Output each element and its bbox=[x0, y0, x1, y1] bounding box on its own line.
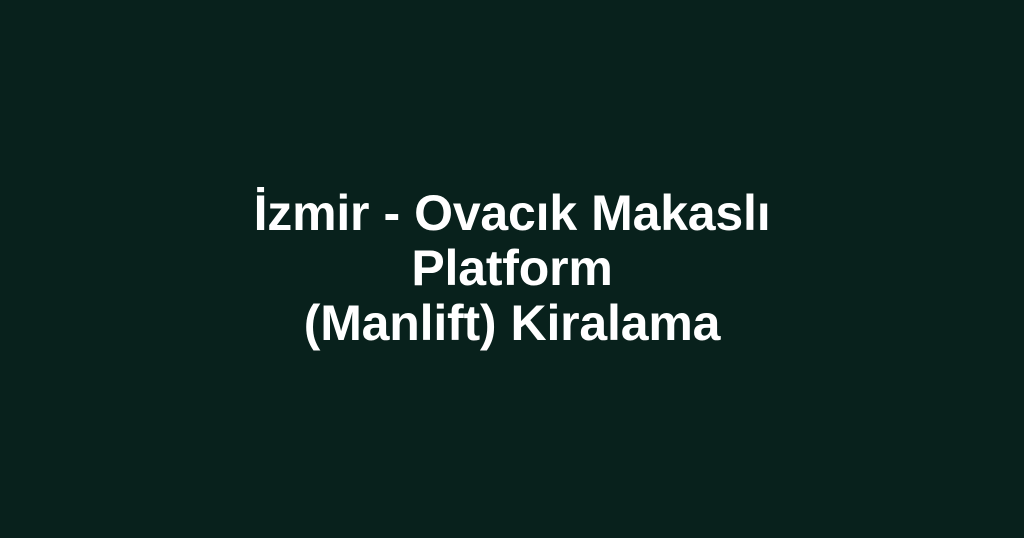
page-title-line-1: İzmir - Ovacık Makaslı Platform bbox=[254, 185, 771, 296]
title-block: İzmir - Ovacık Makaslı Platform (Manlift… bbox=[132, 186, 892, 351]
page-title-line-2: (Manlift) Kiralama bbox=[304, 295, 720, 351]
page-title: İzmir - Ovacık Makaslı Platform (Manlift… bbox=[152, 186, 872, 351]
social-preview-card: İzmir - Ovacık Makaslı Platform (Manlift… bbox=[0, 0, 1024, 538]
